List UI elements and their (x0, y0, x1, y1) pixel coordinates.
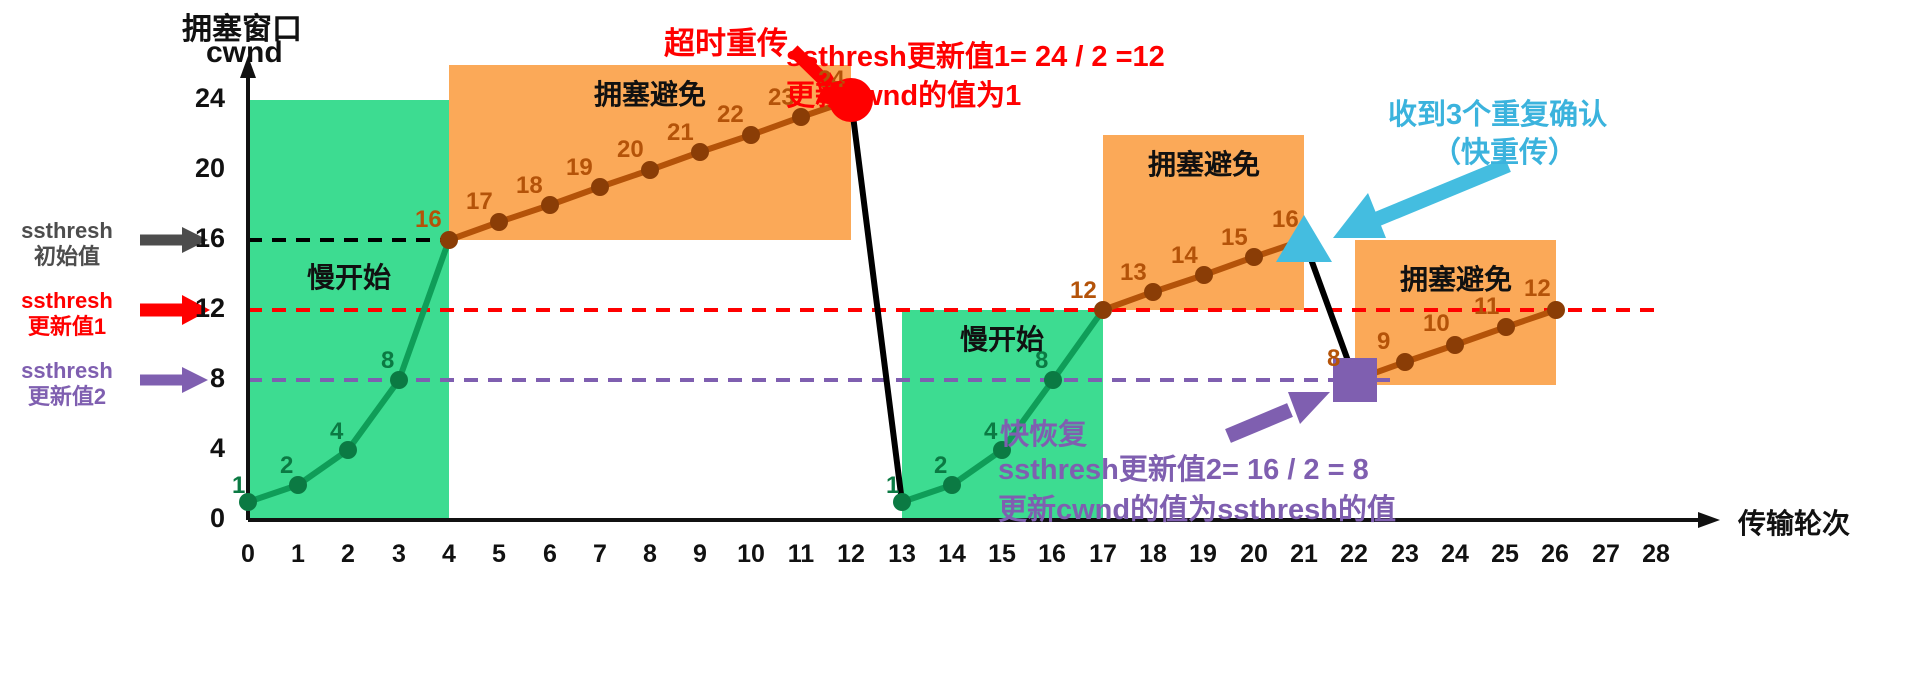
point-label-ss2-3: 8 (1035, 347, 1048, 375)
x-tick-23: 23 (1383, 540, 1427, 569)
point-label-ca3-0: 8 (1327, 345, 1340, 373)
curve-timeout-drop (851, 100, 902, 502)
point-label-ss2-1: 2 (934, 452, 947, 480)
point-label-ca3-1: 9 (1377, 328, 1390, 356)
legend-ssthresh-update2-line2: 更新值2 (0, 384, 142, 410)
point-label-ca1-0: 16 (415, 206, 442, 234)
point-label-ss1-1: 2 (280, 452, 293, 480)
x-tick-5: 5 (477, 540, 521, 569)
x-tick-15: 15 (980, 540, 1024, 569)
y-tick-20: 20 (165, 153, 225, 184)
y-tick-4: 4 (165, 433, 225, 464)
y-axis-title-sub: cwnd (206, 36, 283, 70)
region-label-congestion-avoidance-2: 拥塞避免 (1122, 143, 1286, 183)
point-label-ca1-6: 22 (717, 101, 744, 129)
legend-ssthresh-initial-line2: 初始值 (0, 244, 142, 270)
y-tick-12: 12 (165, 293, 225, 324)
point-label-ss2-0: 1 (886, 472, 899, 500)
x-tick-1: 1 (276, 540, 320, 569)
x-axis-arrow (1698, 512, 1720, 528)
region-label-congestion-avoidance-3: 拥塞避免 (1374, 258, 1538, 298)
legend-ssthresh-update1-line2: 更新值1 (0, 314, 142, 340)
point-label-ca2-4: 16 (1272, 206, 1299, 234)
legend-ssthresh-update2: ssthresh 更新值2 (0, 358, 142, 411)
point-label-ca2-1: 13 (1120, 259, 1147, 287)
x-tick-17: 17 (1081, 540, 1125, 569)
timeout-note-line1: ssthresh更新值1= 24 / 2 =12 (786, 33, 1165, 75)
x-tick-3: 3 (377, 540, 421, 569)
point-label-ss1-2: 4 (330, 418, 343, 446)
timeout-annotation: 超时重传 (664, 18, 788, 63)
point-label-ca3-3: 11 (1474, 293, 1499, 321)
dupack-callout-arrow (1333, 165, 1508, 238)
point-label-ca3-2: 10 (1423, 310, 1450, 338)
region-label-slow-start-1: 慢开始 (267, 256, 431, 296)
x-tick-14: 14 (930, 540, 974, 569)
point-label-ca3-4: 12 (1524, 275, 1551, 303)
y-tick-8: 8 (165, 363, 225, 394)
x-tick-9: 9 (678, 540, 722, 569)
x-tick-7: 7 (578, 540, 622, 569)
point-label-ca2-2: 14 (1171, 242, 1198, 270)
x-tick-24: 24 (1433, 540, 1477, 569)
legend-ssthresh-update2-line1: ssthresh (0, 358, 142, 384)
x-tick-13: 13 (880, 540, 924, 569)
legend-ssthresh-initial-line1: ssthresh (0, 218, 142, 244)
point-label-ca1-1: 17 (466, 188, 493, 216)
y-tick-0: 0 (165, 503, 225, 534)
x-tick-27: 27 (1584, 540, 1628, 569)
x-tick-6: 6 (528, 540, 572, 569)
point-label-ca1-4: 20 (617, 136, 644, 164)
x-axis-title: 传输轮次 (1738, 502, 1850, 542)
x-tick-2: 2 (326, 540, 370, 569)
legend-ssthresh-update1: ssthresh 更新值1 (0, 288, 142, 341)
recovery-note-line1: ssthresh更新值2= 16 / 2 = 8 (998, 446, 1369, 488)
x-tick-25: 25 (1483, 540, 1527, 569)
point-label-ca2-3: 15 (1221, 224, 1248, 252)
x-tick-12: 12 (829, 540, 873, 569)
region-label-congestion-avoidance-1: 拥塞避免 (568, 73, 732, 113)
point-label-ss1-3: 8 (381, 347, 394, 375)
x-tick-11: 11 (779, 540, 823, 569)
x-tick-22: 22 (1332, 540, 1376, 569)
x-tick-19: 19 (1181, 540, 1225, 569)
recovery-note-line2: 更新cwnd的值为ssthresh的值 (998, 486, 1396, 528)
y-tick-24: 24 (165, 83, 225, 114)
x-tick-26: 26 (1533, 540, 1577, 569)
point-label-ss1-0: 1 (232, 472, 245, 500)
point-label-ca1-2: 18 (516, 172, 543, 200)
y-tick-16: 16 (165, 223, 225, 254)
dupack-note-line1: 收到3个重复确认 (1388, 91, 1607, 133)
legend-ssthresh-initial: ssthresh 初始值 (0, 218, 142, 271)
point-label-ca1-5: 21 (667, 119, 694, 147)
x-tick-8: 8 (628, 540, 672, 569)
x-tick-20: 20 (1232, 540, 1276, 569)
point-label-ca2-0: 12 (1070, 277, 1097, 305)
timeout-note-line2: 更新cwnd的值为1 (786, 72, 1021, 114)
dupack-note-line2: （快重传） (1432, 129, 1577, 171)
diagram-canvas: 拥塞窗口 cwnd 传输轮次 0 4 8 12 16 20 24 0 1 2 3… (0, 0, 1912, 695)
x-tick-18: 18 (1131, 540, 1175, 569)
legend-ssthresh-update1-line1: ssthresh (0, 288, 142, 314)
point-label-ss2-2: 4 (984, 418, 997, 446)
x-tick-21: 21 (1282, 540, 1326, 569)
x-tick-0: 0 (226, 540, 270, 569)
fast-recovery-callout-arrow (1228, 392, 1330, 436)
x-tick-10: 10 (729, 540, 773, 569)
point-label-ca1-3: 19 (566, 154, 593, 182)
region-label-slow-start-2: 慢开始 (920, 318, 1084, 358)
x-tick-16: 16 (1030, 540, 1074, 569)
x-tick-4: 4 (427, 540, 471, 569)
x-tick-28: 28 (1634, 540, 1678, 569)
